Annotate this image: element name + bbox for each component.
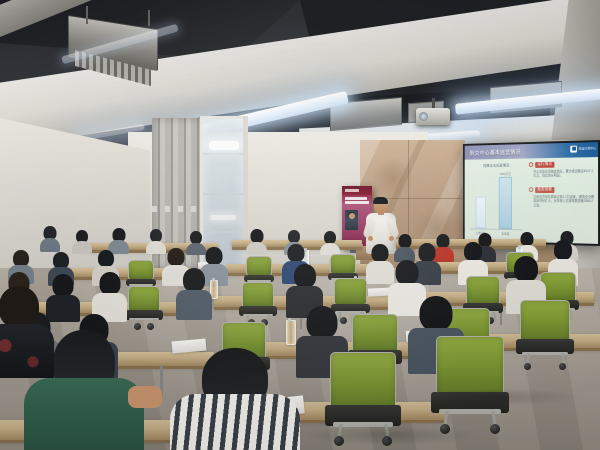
person-head	[514, 256, 538, 282]
slide-bullets: 运行情况 中心交易业务稳定增长，累计成交额达4917.2亿元，同比增长明显。 服…	[529, 161, 594, 217]
chart-plot-area: 上年同期 4850万元 本年度	[471, 174, 523, 230]
chart-bar-previous: 上年同期	[476, 196, 486, 228]
slide-block-2: 服务效能 注册会员单位数量达到1.2万余家，服务企业覆盖面持续扩大，全年线上交易…	[529, 187, 594, 208]
logo-text: 航运交易中心	[579, 146, 596, 150]
slide-block-1-body: 中心交易业务稳定增长，累计成交额达4917.2亿元，同比增长明显。	[533, 169, 594, 179]
floor-shadow	[430, 388, 580, 406]
foreground-person-dark-floral	[0, 286, 54, 378]
slide-block-1-heading: 运行情况	[535, 162, 554, 168]
person-head	[398, 234, 411, 248]
slide-block-2-body: 注册会员单位数量达到1.2万余家，服务企业覆盖面持续扩大，全年线上交易笔数突破3…	[533, 195, 594, 209]
chart-label-b: 本年度	[494, 232, 517, 236]
door-reflection-light-2	[210, 215, 236, 220]
slide-body: 挂牌企业运营情况 上年同期 4850万元 本年度	[465, 157, 598, 244]
bullet-circle-icon	[529, 163, 534, 168]
audience-person	[176, 268, 212, 320]
person-head	[288, 244, 305, 262]
person-head	[183, 268, 205, 292]
audience-person	[72, 230, 92, 254]
chair[interactable]	[436, 336, 504, 432]
duct-hanger-2	[148, 10, 150, 26]
projection-screen[interactable]: 航交中心基本运营情况 航运交易中心 挂牌企业运营情况 上年同期 4850万元	[463, 140, 600, 246]
presenter-hair	[373, 197, 388, 204]
chart-bar-current: 4850万元 本年度	[499, 176, 512, 229]
foreground-person-hand	[128, 386, 162, 408]
person-body	[72, 241, 92, 254]
person-body	[24, 378, 144, 450]
partition-handles	[152, 206, 202, 212]
banner-top-band	[342, 186, 372, 195]
person-head	[98, 250, 114, 267]
slide-title: 航交中心基本运营情况	[470, 148, 521, 157]
slide-block-2-header: 服务效能	[529, 187, 594, 193]
chart-value-label: 4850万元	[500, 172, 511, 176]
banner-portrait	[345, 210, 358, 230]
foreground-person-striped-shirt	[170, 348, 300, 450]
person-head	[521, 232, 534, 246]
logo-mark-icon	[571, 145, 578, 152]
person-body	[176, 290, 212, 320]
person-body	[246, 242, 267, 255]
person-head	[420, 296, 453, 331]
person-head	[396, 260, 419, 285]
chair[interactable]	[520, 300, 570, 368]
bullet-circle-icon	[529, 188, 534, 193]
slide-logo: 航运交易中心	[571, 145, 596, 153]
ceiling-projector	[416, 108, 450, 125]
person-head	[372, 244, 389, 262]
person-head	[206, 247, 223, 265]
person-body	[0, 324, 54, 378]
person-head	[307, 306, 338, 339]
person-head	[168, 248, 185, 266]
audience-person	[246, 229, 267, 255]
chart-axis	[471, 228, 523, 230]
stone-vein-1	[370, 158, 416, 198]
chair[interactable]	[128, 286, 160, 328]
person-head	[250, 229, 263, 243]
water-bottle	[286, 320, 296, 345]
presenter-hand-left	[368, 236, 373, 241]
door-mullion-3	[203, 231, 243, 233]
door-reflection-light	[209, 141, 239, 150]
door-mullion-1	[203, 153, 243, 155]
person-head	[99, 272, 120, 295]
person-head	[294, 264, 316, 288]
person-body	[170, 394, 300, 450]
audience-person	[320, 231, 340, 255]
door-mullion-2	[203, 193, 243, 195]
slide-block-2-heading: 服务效能	[535, 187, 554, 193]
chart-caption: 挂牌企业运营情况	[469, 163, 524, 169]
person-head	[0, 286, 39, 328]
floor-shadow	[300, 424, 480, 446]
slide-block-1: 运行情况 中心交易业务稳定增长，累计成交额达4917.2亿元，同比增长明显。	[529, 161, 594, 178]
slide-block-1-header: 运行情况	[529, 161, 594, 168]
person-body	[40, 238, 60, 252]
projector-lens	[419, 112, 428, 121]
chair[interactable]	[242, 282, 274, 324]
duct-hanger-1	[86, 6, 88, 24]
photo-scene: 航交中心基本运营情况 航运交易中心 挂牌企业运营情况 上年同期 4850万元	[0, 0, 600, 450]
audience-person	[40, 226, 60, 252]
person-head	[554, 240, 572, 260]
person-head	[53, 274, 74, 297]
presentation-slide: 航交中心基本运营情况 航运交易中心 挂牌企业运营情况 上年同期 4850万元	[465, 142, 598, 244]
person-head	[464, 242, 482, 261]
slide-chart: 挂牌企业运营情况 上年同期 4850万元 本年度	[469, 163, 524, 239]
